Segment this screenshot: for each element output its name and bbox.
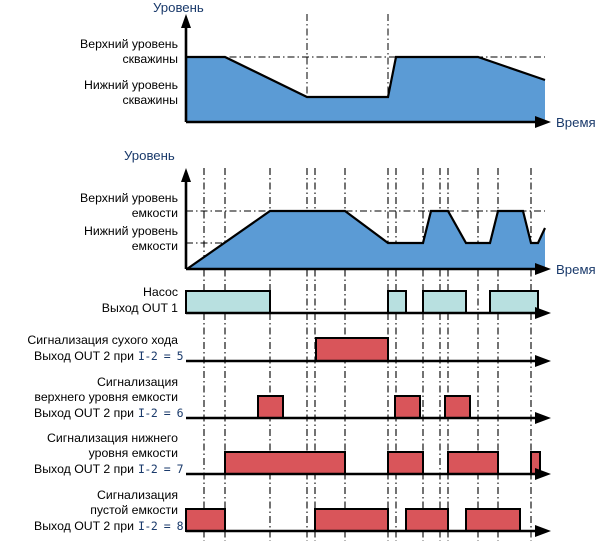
tank-low-alarm-axis-arrow-icon (535, 468, 551, 480)
tank-high-threshold-label-line2: емкости (132, 206, 178, 220)
tank-low-alarm-label-line3: Выход OUT 2 при (34, 462, 134, 476)
tank-empty-alarm-param-value: 8 (177, 519, 184, 533)
dry-run-alarm-param: I-2 = 5 (138, 349, 183, 363)
pump-out1-axis-arrow-icon (535, 307, 551, 319)
dry-run-alarm-label-line2: Выход OUT 2 при (34, 349, 134, 363)
signal-row-tank-high-alarm: Сигнализация верхнего уровня емкости Вых… (34, 375, 551, 424)
signal-row-tank-empty-alarm: Сигнализация пустой емкости Выход OUT 2 … (34, 488, 551, 537)
well-low-threshold-label-line1: Нижний уровень (84, 78, 178, 92)
well-high-threshold-label-line2: скважины (123, 52, 179, 66)
signal-row-pump-out1: Насос Выход OUT 1 (102, 285, 551, 319)
tank-high-alarm-param-name: I-2 (138, 406, 157, 420)
well-low-threshold-label-line2: скважины (123, 93, 179, 107)
tank-high-alarm-label-line3: Выход OUT 2 при (34, 406, 134, 420)
tank-y-axis-arrow-icon (181, 168, 191, 182)
tank-low-alarm-param-value: 7 (177, 462, 184, 476)
signal-row-dry-run-alarm: Сигнализация сухого хода Выход OUT 2 при… (27, 333, 551, 367)
tank-high-alarm-label-line1: Сигнализация (97, 375, 178, 389)
tank-low-alarm-param: I-2 = 7 (138, 462, 184, 476)
tank-empty-alarm-param: I-2 = 8 (138, 519, 184, 533)
tank-empty-alarm-param-name: I-2 (138, 519, 157, 533)
pump-out1-label-line1: Насос (143, 285, 178, 299)
tank-high-threshold-label-line1: Верхний уровень (80, 191, 178, 205)
signal-row-tank-low-alarm: Сигнализация нижнего уровня емкости Выхо… (34, 431, 551, 480)
dry-run-alarm-axis-arrow-icon (535, 355, 551, 367)
tank-low-alarm-param-name: I-2 (138, 462, 157, 476)
level-control-timing-diagram: Уровень Время Верхний уровень скважины Н… (0, 0, 603, 541)
tank-low-alarm-pulses (225, 452, 540, 474)
well-high-threshold-label-line1: Верхний уровень (80, 37, 178, 51)
tank-x-axis-label: Время (556, 262, 596, 277)
well-chart: Уровень Время Верхний уровень скважины Н… (80, 0, 596, 130)
tank-low-threshold-label-line1: Нижний уровень (84, 224, 178, 238)
dry-run-alarm-param-name: I-2 (138, 349, 157, 363)
well-level-area (187, 57, 545, 122)
tank-high-alarm-label-line2: верхнего уровня емкости (34, 390, 178, 404)
dry-run-alarm-param-value: 5 (177, 349, 183, 363)
tank-empty-alarm-label-line2: пустой емкости (90, 503, 178, 517)
tank-low-threshold-label-line2: емкости (132, 239, 178, 253)
pump-out1-pulses (186, 291, 538, 313)
dry-run-alarm-pulses (316, 338, 388, 361)
tank-empty-alarm-pulses (186, 509, 520, 531)
well-y-axis-label: Уровень (153, 0, 204, 15)
tank-high-alarm-pulses (258, 396, 470, 418)
tank-empty-alarm-axis-arrow-icon (535, 525, 551, 537)
tank-y-axis-label: Уровень (124, 148, 175, 163)
tank-low-alarm-label-line1: Сигнализация нижнего (47, 431, 178, 445)
tank-empty-alarm-label-line1: Сигнализация (97, 488, 178, 502)
tank-high-alarm-param-value: 6 (177, 406, 184, 420)
well-x-axis-label: Время (556, 115, 596, 130)
well-y-axis-arrow-icon (181, 14, 191, 28)
tank-empty-alarm-label-line3: Выход OUT 2 при (34, 519, 134, 533)
tank-high-alarm-axis-arrow-icon (535, 412, 551, 424)
dry-run-alarm-label-line1: Сигнализация сухого хода (27, 333, 178, 347)
tank-low-alarm-label-line2: уровня емкости (89, 446, 179, 460)
pump-out1-label-line2: Выход OUT 1 (102, 301, 178, 315)
tank-high-alarm-param: I-2 = 6 (138, 406, 184, 420)
